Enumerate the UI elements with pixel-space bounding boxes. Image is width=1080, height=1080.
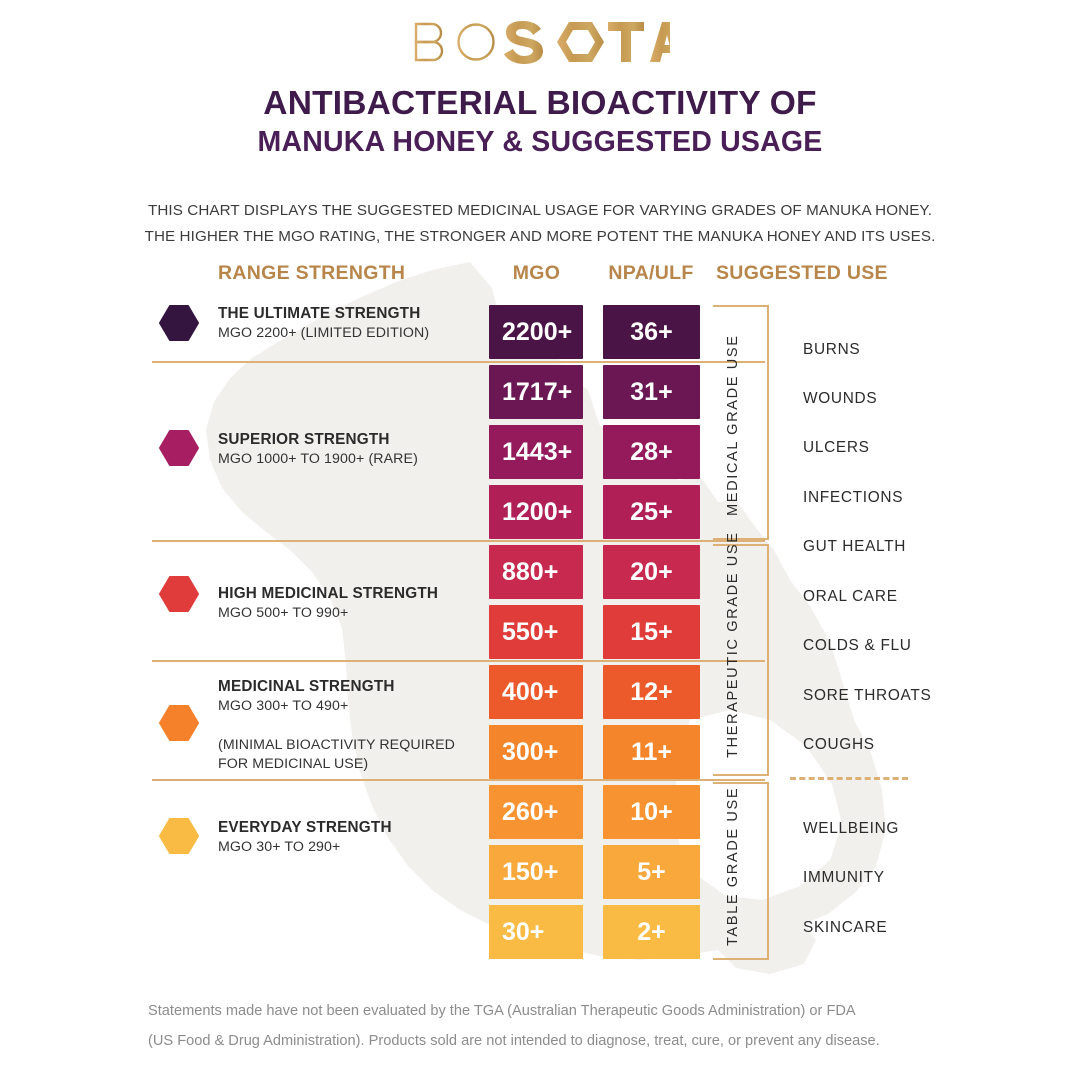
range-title: MEDICINAL STRENGTH xyxy=(218,677,508,696)
npa-value-box: 10+ xyxy=(603,785,700,839)
npa-value-box: 36+ xyxy=(603,305,700,359)
npa-value-box: 28+ xyxy=(603,425,700,479)
brand-logo xyxy=(0,18,1080,71)
footer-line2: (US Food & Drug Administration). Product… xyxy=(148,1026,938,1056)
use-item: ORAL CARE xyxy=(803,588,898,606)
column-headers: RANGE STRENGTH MGO NPA/ULF SUGGESTED USE xyxy=(0,262,1080,288)
range-block-everyday: EVERYDAY STRENGTH MGO 30+ TO 290+ xyxy=(218,818,483,857)
hexagon-medicinal-strength xyxy=(159,705,199,741)
npa-value-box: 5+ xyxy=(603,845,700,899)
use-item: IMMUNITY xyxy=(803,869,885,887)
grade-label-table: TABLE GRADE USE xyxy=(725,800,741,946)
use-item: ULCERS xyxy=(803,439,870,457)
range-subtitle: MGO 300+ TO 490+ xyxy=(218,697,508,716)
mgo-value-box: 150+ xyxy=(489,845,583,899)
mgo-value-box: 880+ xyxy=(489,545,583,599)
use-item: COUGHS xyxy=(803,736,875,754)
page-title-line2: MANUKA HONEY & SUGGESTED USAGE xyxy=(0,125,1080,159)
column-header-npa-ulf: NPA/ULF xyxy=(596,262,706,285)
mgo-value-box: 550+ xyxy=(489,605,583,659)
range-block-medicinal: MEDICINAL STRENGTH MGO 300+ TO 490+ (MIN… xyxy=(218,677,508,774)
range-subtitle: MGO 30+ TO 290+ xyxy=(218,838,483,857)
footer-line1: Statements made have not been evaluated … xyxy=(148,996,938,1026)
section-divider-1 xyxy=(152,361,765,363)
hexagon-high-medicinal-strength xyxy=(159,576,199,612)
use-item: WELLBEING xyxy=(803,820,899,838)
npa-value-box: 25+ xyxy=(603,485,700,539)
range-subtitle: MGO 2200+ (LIMITED EDITION) xyxy=(218,324,483,343)
hexagon-superior-strength xyxy=(159,430,199,466)
page-title-line1: ANTIBACTERIAL BIOACTIVITY OF xyxy=(0,86,1080,122)
table-grade-dashed-separator xyxy=(790,777,908,780)
mgo-value-box: 1443+ xyxy=(489,425,583,479)
range-block-ultimate: THE ULTIMATE STRENGTH MGO 2200+ (LIMITED… xyxy=(218,304,483,343)
column-header-range-strength: RANGE STRENGTH xyxy=(218,262,405,285)
mgo-value-box: 1717+ xyxy=(489,365,583,419)
npa-value-box: 31+ xyxy=(603,365,700,419)
use-item: GUT HEALTH xyxy=(803,538,906,556)
infographic-root: ANTIBACTERIAL BIOACTIVITY OF MANUKA HONE… xyxy=(0,0,1080,1080)
page-subtitle: THIS CHART DISPLAYS THE SUGGESTED MEDICI… xyxy=(0,198,1080,250)
use-item: COLDS & FLU xyxy=(803,637,912,655)
npa-value-box: 2+ xyxy=(603,905,700,959)
npa-value-box: 20+ xyxy=(603,545,700,599)
range-title: SUPERIOR STRENGTH xyxy=(218,430,483,449)
section-divider-2 xyxy=(152,540,765,542)
range-title: HIGH MEDICINAL STRENGTH xyxy=(218,584,483,603)
mgo-value-box: 260+ xyxy=(489,785,583,839)
range-block-high-medicinal: HIGH MEDICINAL STRENGTH MGO 500+ TO 990+ xyxy=(218,584,483,623)
use-item: BURNS xyxy=(803,341,860,359)
mgo-value-box: 1200+ xyxy=(489,485,583,539)
grade-label-therapeutic: THERAPEUTIC GRADE USE xyxy=(725,562,741,758)
footer-disclaimer: Statements made have not been evaluated … xyxy=(148,996,938,1056)
mgo-value-box: 400+ xyxy=(489,665,583,719)
npa-value-box: 12+ xyxy=(603,665,700,719)
range-title: THE ULTIMATE STRENGTH xyxy=(218,304,483,323)
section-divider-4 xyxy=(152,779,765,781)
hexagon-ultimate-strength xyxy=(159,305,199,341)
mgo-value-box: 2200+ xyxy=(489,305,583,359)
grade-label-medical: MEDICAL GRADE USE xyxy=(725,330,741,520)
use-item: WOUNDS xyxy=(803,390,877,408)
npa-value-box: 15+ xyxy=(603,605,700,659)
section-divider-3 xyxy=(152,660,765,662)
column-header-mgo: MGO xyxy=(489,262,584,285)
range-subtitle: MGO 1000+ TO 1900+ (RARE) xyxy=(218,450,483,469)
range-subtitle: MGO 500+ TO 990+ xyxy=(218,604,483,623)
hexagon-everyday-strength xyxy=(159,818,199,854)
mgo-value-box: 30+ xyxy=(489,905,583,959)
range-block-superior: SUPERIOR STRENGTH MGO 1000+ TO 1900+ (RA… xyxy=(218,430,483,469)
range-title: EVERYDAY STRENGTH xyxy=(218,818,483,837)
subtitle-line1: THIS CHART DISPLAYS THE SUGGESTED MEDICI… xyxy=(0,198,1080,224)
page-title-block: ANTIBACTERIAL BIOACTIVITY OF MANUKA HONE… xyxy=(0,86,1080,159)
column-header-suggested-use: SUGGESTED USE xyxy=(716,262,888,285)
use-item: INFECTIONS xyxy=(803,489,903,507)
range-note: (MINIMAL BIOACTIVITY REQUIRED FOR MEDICI… xyxy=(218,736,508,774)
mgo-value-box: 300+ xyxy=(489,725,583,779)
use-item: SKINCARE xyxy=(803,919,887,937)
npa-value-box: 11+ xyxy=(603,725,700,779)
use-item: SORE THROATS xyxy=(803,687,931,705)
subtitle-line2: THE HIGHER THE MGO RATING, THE STRONGER … xyxy=(0,224,1080,250)
